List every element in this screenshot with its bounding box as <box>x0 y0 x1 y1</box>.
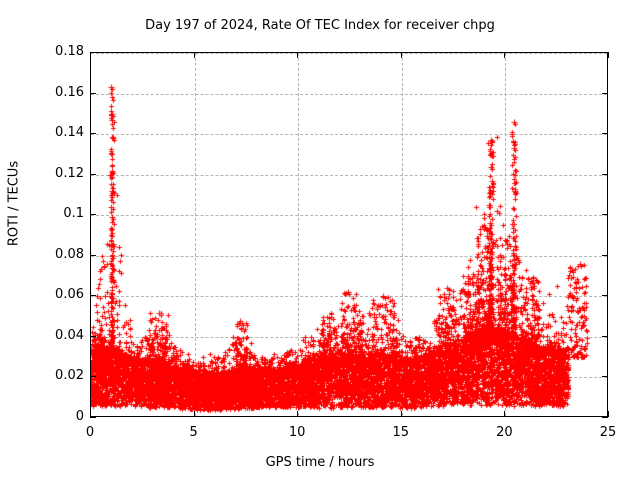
y-tick-mark <box>90 255 96 256</box>
y-tick-mark-right <box>602 133 608 134</box>
y-tick-mark <box>90 295 96 296</box>
x-axis-label: GPS time / hours <box>0 455 640 470</box>
x-tick-mark-top <box>90 52 91 58</box>
x-tick-label: 25 <box>588 425 628 440</box>
x-tick-label: 15 <box>381 425 421 440</box>
y-tick-mark-right <box>602 417 608 418</box>
y-tick-mark-right <box>602 214 608 215</box>
y-tick-label: 0.16 <box>22 85 84 100</box>
y-tick-mark <box>90 93 96 94</box>
x-tick-mark-top <box>194 52 195 58</box>
y-tick-label: 0.14 <box>22 125 84 140</box>
y-tick-mark <box>90 174 96 175</box>
x-tick-mark <box>504 411 505 417</box>
x-tick-mark-top <box>297 52 298 58</box>
roti-scatter-figure: Day 197 of 2024, Rate Of TEC Index for r… <box>0 0 640 480</box>
y-tick-mark <box>90 417 96 418</box>
y-tick-mark-right <box>602 295 608 296</box>
x-tick-mark-top <box>401 52 402 58</box>
y-tick-label: 0 <box>22 409 84 424</box>
y-tick-label: 0.02 <box>22 368 84 383</box>
plot-area <box>90 52 608 417</box>
y-tick-label: 0.1 <box>22 206 84 221</box>
y-tick-mark-right <box>602 336 608 337</box>
x-tick-mark <box>401 411 402 417</box>
x-tick-mark <box>194 411 195 417</box>
x-tick-mark <box>608 411 609 417</box>
x-tick-label: 5 <box>174 425 214 440</box>
y-tick-mark <box>90 376 96 377</box>
x-tick-label: 0 <box>70 425 110 440</box>
y-tick-label: 0.18 <box>22 44 84 59</box>
y-tick-label: 0.04 <box>22 328 84 343</box>
y-tick-mark <box>90 214 96 215</box>
y-tick-label: 0.06 <box>22 287 84 302</box>
x-tick-mark <box>90 411 91 417</box>
y-tick-mark-right <box>602 93 608 94</box>
chart-title: Day 197 of 2024, Rate Of TEC Index for r… <box>0 18 640 33</box>
y-tick-label: 0.08 <box>22 247 84 262</box>
x-tick-label: 20 <box>484 425 524 440</box>
y-tick-mark <box>90 336 96 337</box>
x-tick-label: 10 <box>277 425 317 440</box>
y-tick-mark-right <box>602 255 608 256</box>
x-tick-mark-top <box>608 52 609 58</box>
y-tick-mark-right <box>602 174 608 175</box>
x-tick-mark-top <box>504 52 505 58</box>
x-tick-mark <box>297 411 298 417</box>
y-tick-mark-right <box>602 376 608 377</box>
y-axis-label: ROTI / TECUs <box>7 124 22 284</box>
scatter-data-layer <box>91 53 608 417</box>
y-tick-label: 0.12 <box>22 166 84 181</box>
y-tick-mark <box>90 133 96 134</box>
